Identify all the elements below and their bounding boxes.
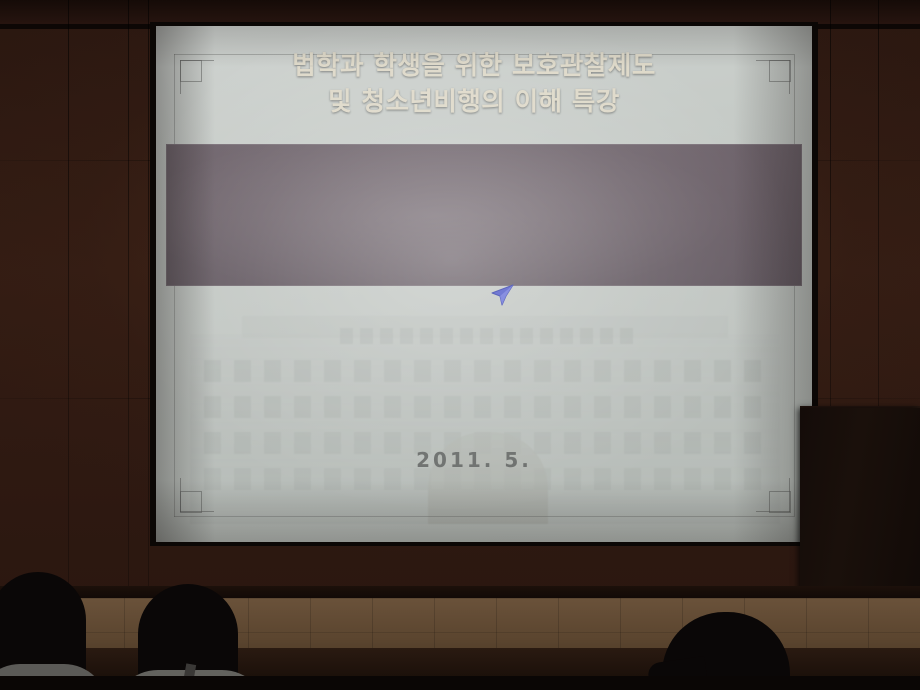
audience-member-left: [0, 572, 86, 690]
wall-panel-seam: [68, 0, 69, 600]
slide-title-line-2: 및 청소년비행의 이해 특강: [156, 84, 792, 120]
wall-panel-seam: [148, 0, 149, 600]
lecture-hall-scene: 법학과 학생을 위한 보호관찰제도 및 청소년비행의 이해 특강 2011. 5…: [0, 0, 920, 690]
foreground-shadow: [0, 676, 920, 690]
slide-corner-ornament-bottom-left: [180, 478, 214, 512]
projection-screen: 법학과 학생을 위한 보호관찰제도 및 청소년비행의 이해 특강 2011. 5…: [156, 26, 812, 542]
photo-caption-ghost: [340, 328, 640, 344]
background-building-photo: [190, 316, 780, 536]
slide-title-line-1: 법학과 학생을 위한 보호관찰제도: [156, 48, 792, 84]
slide-title: 법학과 학생을 위한 보호관찰제도 및 청소년비행의 이해 특강: [156, 48, 792, 120]
slide-frame-bottom: [174, 516, 794, 517]
wall-panel-seam: [128, 0, 129, 600]
mouse-pointer-icon[interactable]: [488, 284, 514, 308]
slide-title-band: [166, 144, 802, 286]
slide-date: 2011. 5.: [156, 448, 792, 472]
slide-corner-ornament-bottom-right: [756, 478, 790, 512]
